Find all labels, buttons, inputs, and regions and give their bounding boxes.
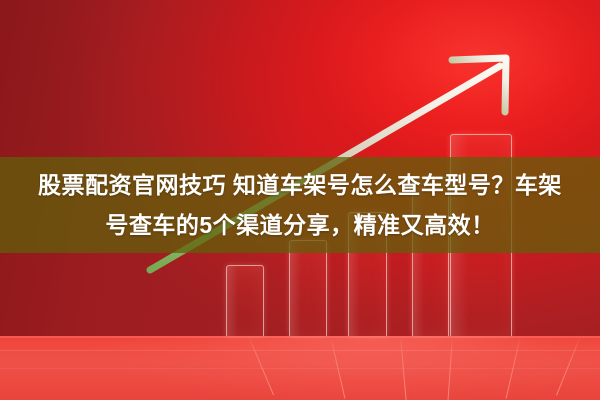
headline-line-1: 股票配资官网技巧 知道车架号怎么查车型号？车架 [32, 166, 568, 204]
headline-line-2: 号查车的5个渠道分享，精准又高效！ [99, 206, 500, 244]
promo-banner: 股票配资官网技巧 知道车架号怎么查车型号？车架 号查车的5个渠道分享，精准又高效… [0, 0, 600, 400]
bar-highlight [290, 241, 301, 336]
chart-bar-2 [289, 240, 327, 336]
bar-highlight [227, 266, 238, 336]
chart-bar-1 [226, 265, 264, 336]
headline: 股票配资官网技巧 知道车架号怎么查车型号？车架 号查车的5个渠道分享，精准又高效… [0, 157, 600, 253]
